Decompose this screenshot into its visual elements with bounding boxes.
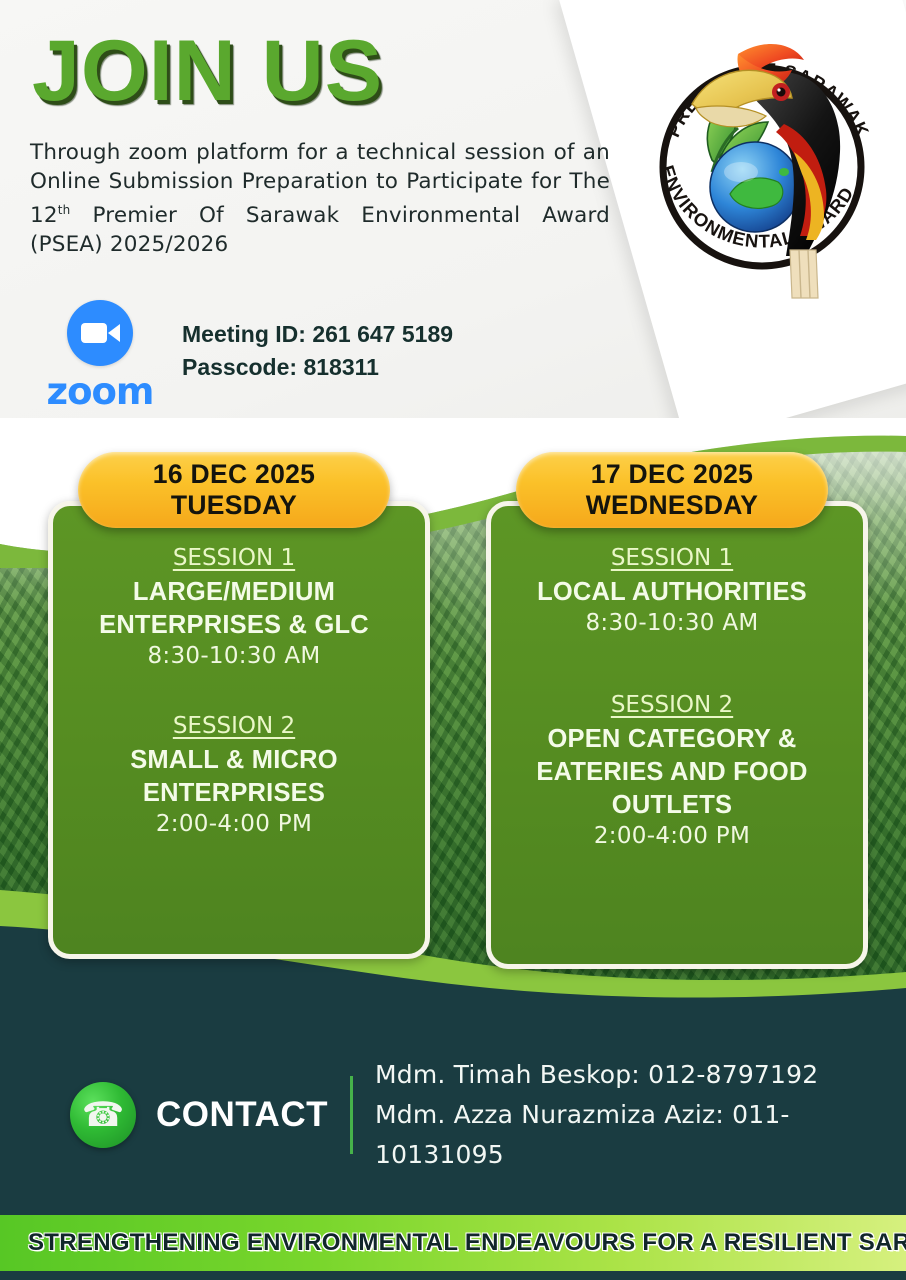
hornbill-award-logo: PREMIER OF SARAWAK ENVIRONMENTAL AWARD: [634, 12, 892, 302]
session-title-d2-s2-line1: OPEN CATEGORY &: [486, 724, 858, 754]
session-title-d1-s1-line2: ENTERPRISES & GLC: [48, 610, 420, 640]
session-title-d1-s1-line1: LARGE/MEDIUM: [48, 577, 420, 607]
session-time-d1-s2: 2:00-4:00 PM: [48, 811, 420, 837]
schedule-body-day-1: SESSION 1 LARGE/MEDIUM ENTERPRISES & GLC…: [48, 545, 420, 837]
session-title-d1-s2-line1: SMALL & MICRO: [48, 745, 420, 775]
phone-icon: ☎: [70, 1082, 136, 1148]
schedule-body-day-2: SESSION 1 LOCAL AUTHORITIES 8:30-10:30 A…: [486, 545, 858, 849]
session-title-d2-s2-line3: OUTLETS: [486, 790, 858, 820]
session-label-d1-s1: SESSION 1: [48, 545, 420, 571]
header-subtitle: Through zoom platform for a technical se…: [30, 138, 610, 259]
footer-tagline: STRENGTHENING ENVIRONMENTAL ENDEAVOURS F…: [28, 1229, 906, 1257]
subtitle-ordinal-suffix: th: [58, 203, 71, 217]
footer-banner: STRENGTHENING ENVIRONMENTAL ENDEAVOURS F…: [0, 1215, 906, 1271]
session-title-d2-s2-line2: EATERIES AND FOOD: [486, 757, 858, 787]
contact-section: ☎ CONTACT Mdm. Timah Beskop: 012-8797192…: [0, 1060, 906, 1170]
contact-divider: [350, 1076, 353, 1154]
contact-list: Mdm. Timah Beskop: 012-8797192 Mdm. Azza…: [375, 1055, 906, 1175]
session-label-d2-s2: SESSION 2: [486, 692, 858, 718]
contact-heading: CONTACT: [156, 1095, 328, 1135]
date-text-day-1: 16 DEC 2025: [153, 459, 315, 490]
session-label-d1-s2: SESSION 2: [48, 713, 420, 739]
meeting-id: Meeting ID: 261 647 5189: [182, 318, 453, 351]
zoom-logo: zoom: [40, 300, 160, 413]
contact-entry-2[interactable]: Mdm. Azza Nurazmiza Aziz: 011-10131095: [375, 1095, 906, 1175]
subtitle-line-4: Premier Of Sarawak Environmental Award: [92, 203, 610, 228]
session-time-d2-s1: 8:30-10:30 AM: [486, 610, 858, 636]
weekday-text-day-1: TUESDAY: [171, 490, 297, 521]
hornbill-globe-award-emblem-icon: PREMIER OF SARAWAK ENVIRONMENTAL AWARD: [634, 12, 892, 302]
date-pill-day-1: 16 DEC 2025 TUESDAY: [78, 452, 390, 528]
page-title: JOIN US: [32, 28, 383, 114]
date-pill-day-2: 17 DEC 2025 WEDNESDAY: [516, 452, 828, 528]
session-title-d2-s1-line1: LOCAL AUTHORITIES: [486, 577, 858, 607]
session-title-d1-s2-line2: ENTERPRISES: [48, 778, 420, 808]
session-label-d2-s1: SESSION 1: [486, 545, 858, 571]
weekday-text-day-2: WEDNESDAY: [586, 490, 759, 521]
zoom-camera-icon: [67, 300, 133, 366]
zoom-wordmark: zoom: [40, 370, 160, 413]
poster-canvas: JOIN US Through zoom platform for a tech…: [0, 0, 906, 1280]
meeting-details: Meeting ID: 261 647 5189 Passcode: 81831…: [182, 318, 453, 384]
meeting-passcode: Passcode: 818311: [182, 351, 453, 384]
date-text-day-2: 17 DEC 2025: [591, 459, 753, 490]
contact-entry-1[interactable]: Mdm. Timah Beskop: 012-8797192: [375, 1055, 906, 1095]
session-time-d2-s2: 2:00-4:00 PM: [486, 823, 858, 849]
session-time-d1-s1: 8:30-10:30 AM: [48, 643, 420, 669]
subtitle-line-1: Through zoom platform for a technical: [30, 140, 456, 165]
subtitle-line-5: (PSEA) 2025/2026: [30, 232, 228, 257]
